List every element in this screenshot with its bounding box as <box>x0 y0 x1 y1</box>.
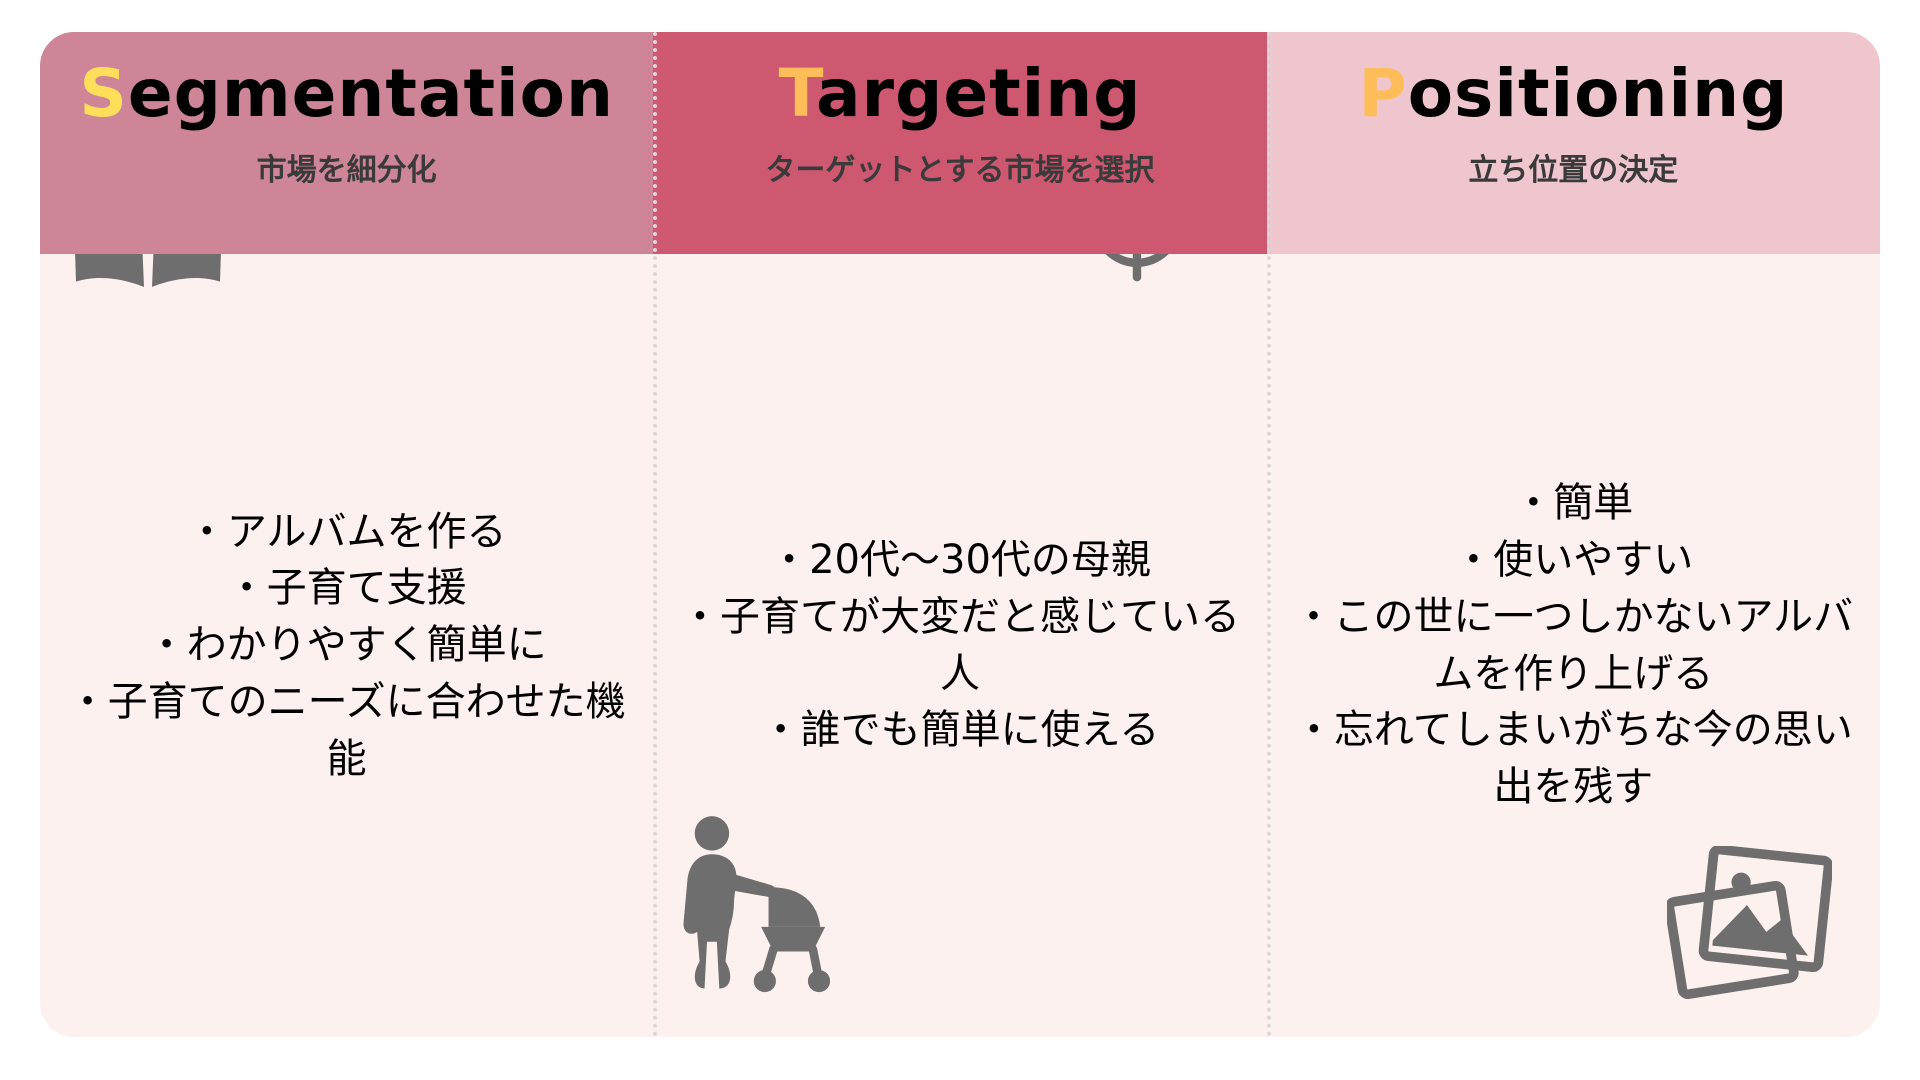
header-targeting: Targeting ターゲットとする市場を選択 <box>653 32 1266 254</box>
body-targeting: ・20代〜30代の母親 ・子育てが大変だと感じている人 ・誰でも簡単に使える <box>653 254 1266 1037</box>
title-rest-positioning: ositioning <box>1408 55 1789 132</box>
title-lead-letter-t: T <box>778 55 816 132</box>
title-lead-letter-p: P <box>1358 55 1407 132</box>
header-positioning: Positioning 立ち位置の決定 <box>1267 32 1880 254</box>
title-lead-letter-s: S <box>79 55 128 132</box>
title-rest-segmentation: egmentation <box>128 55 614 132</box>
bullet-list-segmentation: ・アルバムを作る ・子育て支援 ・わかりやすく簡単に ・子育てのニーズに合わせた… <box>48 504 645 788</box>
title-targeting: Targeting <box>778 58 1141 131</box>
title-segmentation: Segmentation <box>79 58 614 131</box>
subtitle-targeting: ターゲットとする市場を選択 <box>765 145 1154 189</box>
subtitle-segmentation: 市場を細分化 <box>257 145 437 189</box>
title-positioning: Positioning <box>1358 58 1788 131</box>
column-segmentation: Segmentation 市場を細分化 ・アルバムを作る ・子育て支援 ・わかり… <box>40 32 653 1037</box>
column-targeting: Targeting ターゲットとする市場を選択 <box>653 32 1266 1037</box>
header-segmentation: Segmentation 市場を細分化 <box>40 32 653 254</box>
body-positioning: ・簡単 ・使いやすい ・この世に一つしかないアルバムを作り上げる ・忘れてしまい… <box>1267 254 1880 1037</box>
bullet-list-positioning: ・簡単 ・使いやすい ・この世に一つしかないアルバムを作り上げる ・忘れてしまい… <box>1275 475 1872 816</box>
column-positioning: Positioning 立ち位置の決定 ・簡単 ・使いやすい ・この世に一つしか… <box>1267 32 1880 1037</box>
stp-framework-board: Segmentation 市場を細分化 ・アルバムを作る ・子育て支援 ・わかり… <box>40 32 1880 1037</box>
body-segmentation: ・アルバムを作る ・子育て支援 ・わかりやすく簡単に ・子育てのニーズに合わせた… <box>40 254 653 1037</box>
title-rest-targeting: argeting <box>816 55 1142 132</box>
bullet-list-targeting: ・20代〜30代の母親 ・子育てが大変だと感じている人 ・誰でも簡単に使える <box>661 532 1258 759</box>
subtitle-positioning: 立ち位置の決定 <box>1468 145 1678 189</box>
mother-stroller-icon <box>675 811 835 1001</box>
photo-frames-icon <box>1667 846 1832 1001</box>
